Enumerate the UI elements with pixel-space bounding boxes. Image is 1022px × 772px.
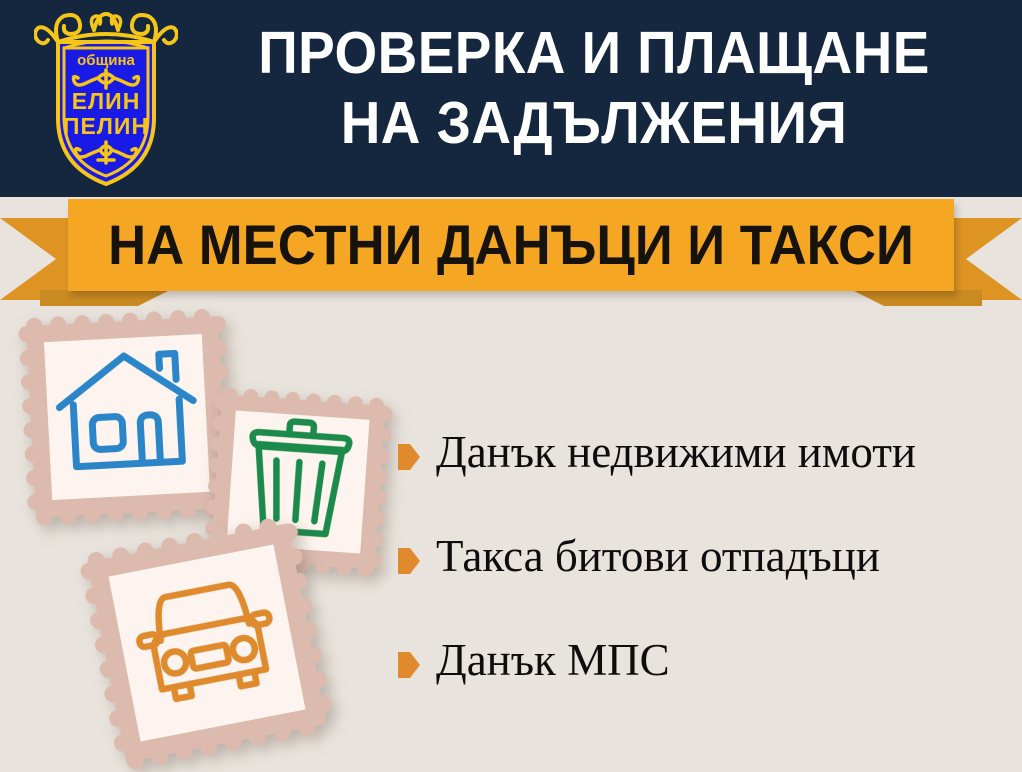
- logo-name-line2: ПЕЛИН: [63, 113, 149, 139]
- logo-obshtina-text: община: [77, 52, 135, 69]
- service-label-property-tax: Данък недвижими имоти: [436, 424, 916, 480]
- page-title-line-1: ПРОВЕРКА И ПЛАЩАНЕ: [209, 18, 979, 88]
- stamp-house-graphic: [17, 307, 238, 528]
- arrow-bullet-icon: [398, 444, 420, 470]
- arrow-bullet-icon: [398, 652, 420, 678]
- ribbon-banner: НА МЕСТНИ ДАНЪЦИ И ТАКСИ: [0, 196, 1022, 314]
- list-item[interactable]: Данък МПС: [398, 632, 1008, 736]
- coat-of-arms-icon: община ЕЛИН ПЕЛИН: [34, 8, 178, 190]
- list-item[interactable]: Данък недвижими имоти: [398, 424, 1008, 528]
- page-title: ПРОВЕРКА И ПЛАЩАНЕ НА ЗАДЪЛЖЕНИЯ: [209, 18, 979, 158]
- poster-canvas: община ЕЛИН ПЕЛИН ПРОВЕРКА И ПЛАЩАНЕ НА …: [0, 0, 1022, 772]
- ribbon-fold-left: [40, 290, 170, 306]
- services-list: Данък недвижими имоти Такса битови отпад…: [398, 424, 1008, 736]
- service-label-waste-fee: Такса битови отпадъци: [436, 528, 880, 584]
- list-item[interactable]: Такса битови отпадъци: [398, 528, 1008, 632]
- logo-name-line1: ЕЛИН: [72, 88, 141, 114]
- service-label-vehicle-tax: Данък МПС: [436, 632, 670, 688]
- ribbon-fold-right: [852, 290, 982, 306]
- page-title-line-2: НА ЗАДЪЛЖЕНИЯ: [209, 88, 979, 158]
- stamp-card-house: [17, 307, 238, 528]
- stamp-vehicle-graphic: [77, 513, 337, 772]
- arrow-bullet-icon: [398, 548, 420, 574]
- stamp-card-vehicle: [77, 513, 337, 772]
- logo: община ЕЛИН ПЕЛИН: [34, 8, 178, 190]
- ribbon-label: НА МЕСТНИ ДАНЪЦИ И ТАКСИ: [95, 199, 928, 291]
